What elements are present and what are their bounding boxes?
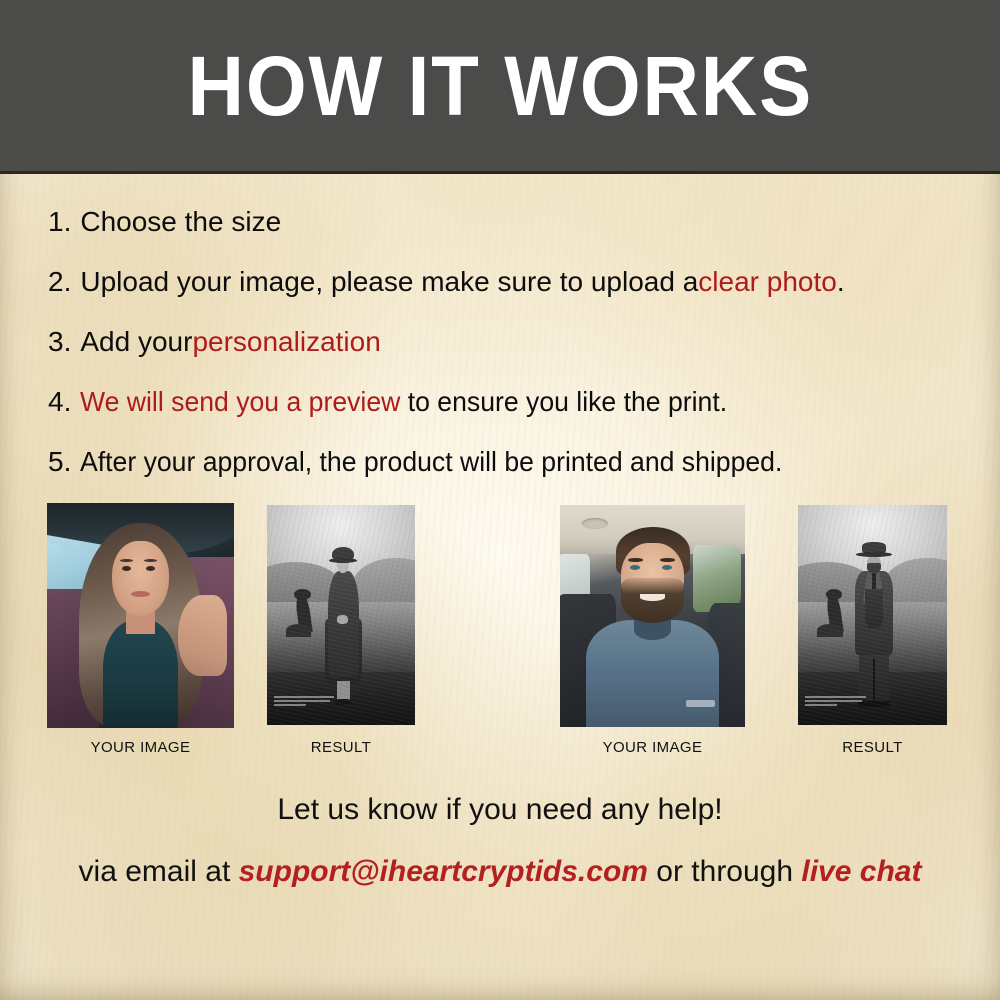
live-chat-link[interactable]: live chat bbox=[801, 855, 921, 888]
example-gallery: YOUR IMAGE bbox=[0, 500, 1000, 770]
step-number-4: 4. bbox=[48, 388, 71, 416]
step-text-3-highlight: personalization bbox=[192, 328, 380, 356]
vintage-vest-shape bbox=[865, 589, 883, 629]
step-text-4-highlight: We will send you a preview bbox=[80, 386, 400, 417]
contact-middle: or through bbox=[648, 855, 801, 888]
vintage-dress-shape bbox=[328, 571, 359, 677]
photo-result-man-print bbox=[798, 505, 947, 725]
step-number-3: 3. bbox=[48, 328, 71, 356]
car-window-right-shape bbox=[693, 545, 741, 612]
how-it-works-page: HOW IT WORKS 1. Choose the size 2. Uploa… bbox=[0, 0, 1000, 1000]
step-text-2-highlight: clear photo bbox=[698, 268, 837, 296]
eye-left-shape bbox=[122, 566, 131, 571]
step-item-1: 1. Choose the size bbox=[48, 208, 968, 268]
support-email-link[interactable]: support@iheartcryptids.com bbox=[239, 855, 648, 888]
step-item-3: 3. Add your personalization bbox=[48, 328, 968, 388]
caption-result-2: RESULT bbox=[798, 739, 947, 756]
man-eye-right-shape bbox=[662, 565, 672, 570]
step-text-2-period: . bbox=[837, 268, 845, 296]
step-number-5: 5. bbox=[48, 448, 71, 476]
mouth-shape bbox=[131, 591, 150, 597]
gallery-item-result-2: RESULT bbox=[798, 505, 947, 725]
gallery-item-your-image-1: YOUR IMAGE bbox=[47, 503, 234, 728]
turtleneck-shape bbox=[103, 620, 178, 728]
nessie-hump-shape bbox=[286, 624, 311, 637]
step-text-4-plain: to ensure you like the print. bbox=[401, 386, 728, 417]
steps-list: 1. Choose the size 2. Upload your image,… bbox=[48, 208, 968, 508]
photo-source-man-selfie bbox=[560, 505, 745, 727]
man-eyebrow-right-shape bbox=[660, 558, 675, 562]
photo-source-woman-selfie bbox=[47, 503, 234, 728]
vintage-hands-shape bbox=[337, 615, 349, 624]
step-number-1: 1. bbox=[48, 208, 71, 236]
shirt-logo-shape bbox=[686, 700, 716, 707]
man-eye-left-shape bbox=[630, 565, 640, 570]
page-header: HOW IT WORKS bbox=[0, 0, 1000, 174]
gallery-item-your-image-2: YOUR IMAGE bbox=[560, 505, 745, 727]
step-text-1: Choose the size bbox=[80, 208, 281, 236]
man-eyebrow-left-shape bbox=[628, 558, 643, 562]
caption-result-1: RESULT bbox=[267, 739, 415, 756]
nessie-hump-shape bbox=[817, 624, 842, 637]
photo-result-woman-print bbox=[267, 505, 415, 725]
contact-prefix: via email at bbox=[79, 855, 239, 888]
step-number-2: 2. bbox=[48, 268, 71, 296]
footer-help-section: Let us know if you need any help! via em… bbox=[0, 795, 1000, 887]
step-text-5: After your approval, the product will be… bbox=[80, 448, 782, 476]
print-caption-block bbox=[805, 688, 871, 714]
gallery-item-result-1: RESULT bbox=[267, 505, 415, 725]
vintage-hat-brim-shape bbox=[329, 558, 357, 563]
caption-your-image-1: YOUR IMAGE bbox=[47, 739, 234, 756]
face-shape bbox=[112, 541, 168, 615]
step-text-2-plain: Upload your image, please make sure to u… bbox=[80, 268, 698, 296]
step-item-5: 5. After your approval, the product will… bbox=[48, 448, 968, 508]
vintage-leg-gap-shape bbox=[873, 659, 876, 705]
step-item-4: 4. We will send you a preview to ensure … bbox=[48, 388, 968, 448]
print-caption-block bbox=[274, 688, 339, 714]
page-title: HOW IT WORKS bbox=[187, 44, 813, 128]
contact-line: via email at support@iheartcryptids.com … bbox=[0, 857, 1000, 887]
step-text-3-plain: Add your bbox=[80, 328, 192, 356]
arm-shape bbox=[178, 595, 227, 676]
step-item-2: 2. Upload your image, please make sure t… bbox=[48, 268, 968, 328]
caption-your-image-2: YOUR IMAGE bbox=[560, 739, 745, 756]
help-line: Let us know if you need any help! bbox=[0, 795, 1000, 825]
